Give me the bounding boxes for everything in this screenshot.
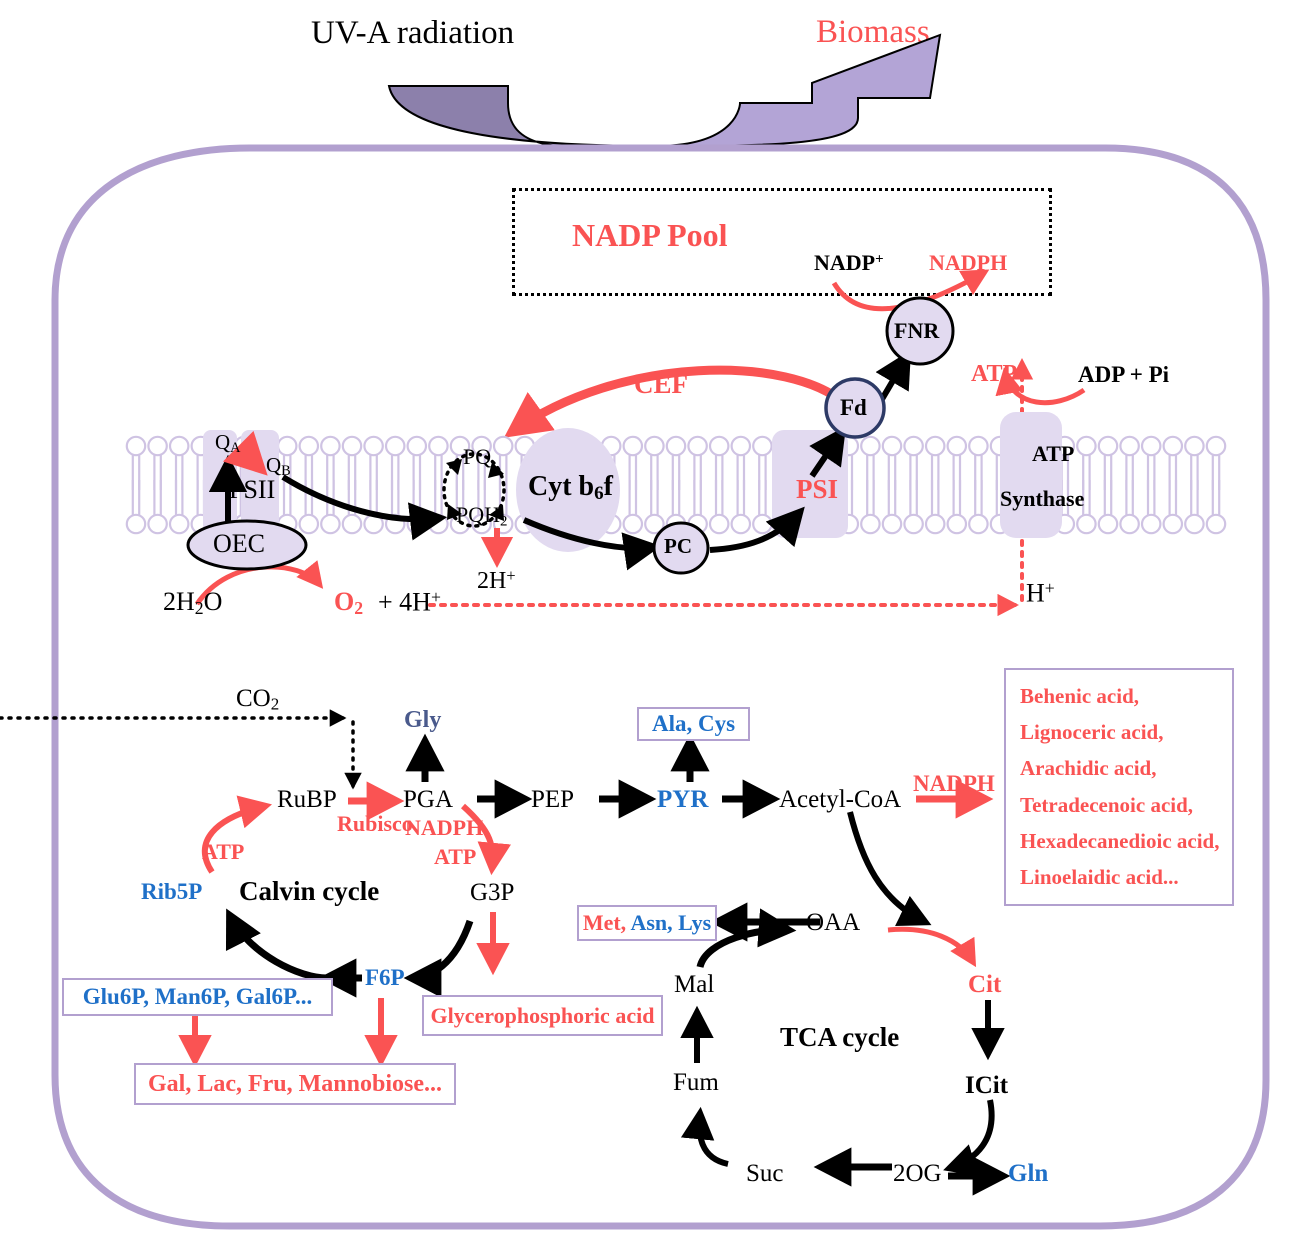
fatty-acid-item: Arachidic acid, — [1020, 756, 1157, 781]
icit-to-2og-arrow — [950, 1100, 992, 1168]
oaa-to-cit-arrow — [888, 929, 973, 962]
nadph-fattyacid-label: NADPH — [913, 772, 995, 795]
suc-label: Suc — [746, 1161, 784, 1186]
met-asn-lys-label: Met, Asn, Lys — [583, 910, 711, 936]
glu6p-box: Glu6P, Man6P, Gal6P... — [62, 978, 333, 1016]
met-label: Met, — [583, 910, 626, 935]
g3p-label: G3P — [470, 880, 514, 905]
fum-label: Fum — [673, 1070, 719, 1095]
cit-label: Cit — [968, 972, 1001, 997]
mal-label: Mal — [674, 972, 714, 997]
ala-cys-box: Ala, Cys — [637, 707, 750, 741]
atp-rib-label: ATP — [202, 841, 244, 863]
f6p-label: F6P — [365, 966, 405, 989]
calvin-cycle-title: Calvin cycle — [239, 878, 379, 905]
rib5p-label: Rib5P — [141, 880, 202, 903]
asn-lys-label: Asn, Lys — [626, 910, 711, 935]
met-asn-lys-box: Met, Asn, Lys — [577, 905, 717, 941]
fatty-acid-item: Tetradecenoic acid, — [1020, 793, 1193, 818]
rubp-label: RuBP — [277, 787, 337, 812]
pep-label: PEP — [531, 787, 574, 812]
glu6p-label: Glu6P, Man6P, Gal6P... — [83, 984, 312, 1010]
glu6p-to-rib5p-arrow — [230, 916, 327, 978]
g3p-to-f6p-arrow — [412, 921, 470, 978]
fatty-acid-item: Behenic acid, — [1020, 684, 1139, 709]
gly-label: Gly — [404, 708, 441, 732]
2og-label: 2OG — [893, 1161, 942, 1186]
icit-label: ICit — [965, 1073, 1008, 1098]
fatty-acid-item: Linoelaidic acid... — [1020, 865, 1179, 890]
gln-label: Gln — [1008, 1161, 1048, 1186]
glycerophosphoric-label: Glycerophosphoric acid — [431, 1003, 655, 1029]
nadph-calvin-label: NADPH — [405, 817, 483, 839]
glycerophosphoric-box: Glycerophosphoric acid — [422, 995, 663, 1036]
pyr-label: PYR — [657, 787, 708, 812]
rubisco-label: Rubisco — [337, 813, 413, 835]
pga-label: PGA — [403, 787, 453, 812]
co2-label: CO2 — [236, 686, 279, 713]
acetylcoa-to-tca-arrow — [850, 812, 925, 922]
carbon-metabolism-layer — [0, 0, 1290, 1247]
fatty-acids-box: Behenic acid, Lignoceric acid, Arachidic… — [1004, 668, 1234, 906]
sugars-box: Gal, Lac, Fru, Mannobiose... — [134, 1063, 456, 1105]
ala-cys-label: Ala, Cys — [652, 711, 735, 737]
atp-pga-label: ATP — [434, 846, 476, 868]
suc-to-fum-arrow — [699, 1114, 728, 1164]
tca-cycle-title: TCA cycle — [780, 1024, 899, 1051]
diagram-canvas: UV-A radiation Biomass NADP Pool NADP+ N… — [0, 0, 1290, 1247]
fatty-acid-item: Lignoceric acid, — [1020, 720, 1163, 745]
oaa-label: OAA — [806, 910, 860, 935]
acetyl-coa-label: Acetyl-CoA — [779, 787, 901, 812]
sugars-label: Gal, Lac, Fru, Mannobiose... — [148, 1071, 442, 1098]
fatty-acid-item: Hexadecanedioic acid, — [1020, 829, 1219, 854]
